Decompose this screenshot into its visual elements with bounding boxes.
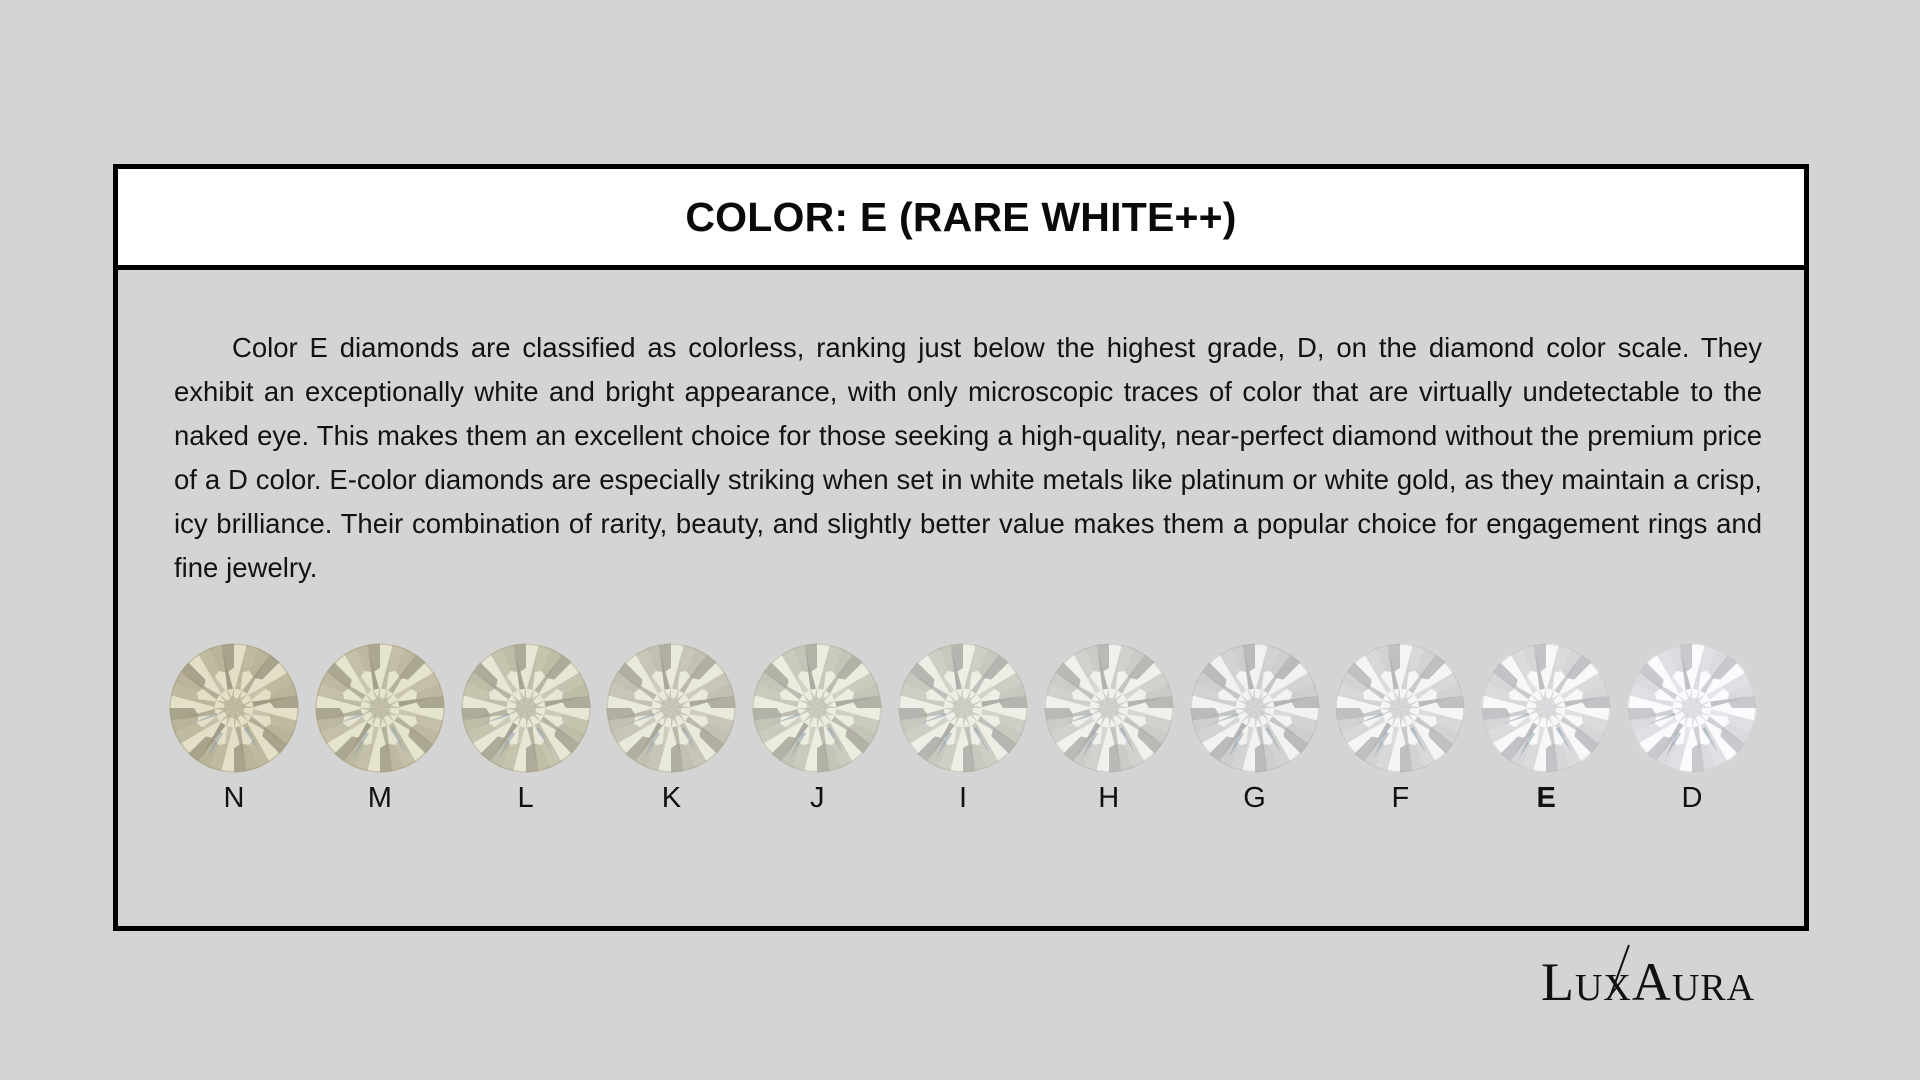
diamond-icon <box>314 642 446 774</box>
brand-logo: LUXAURA <box>1541 951 1755 1013</box>
logo-letter-a: A <box>1632 952 1672 1012</box>
color-grade-item[interactable]: I <box>897 642 1029 813</box>
color-grade-label: K <box>662 784 681 813</box>
color-grade-item[interactable]: M <box>314 642 446 813</box>
diamond-icon <box>1626 642 1758 774</box>
diamond-icon <box>897 642 1029 774</box>
logo-letters-ux: UX <box>1575 966 1632 1010</box>
color-grade-item[interactable]: D <box>1626 642 1758 813</box>
color-grade-label: M <box>368 784 392 813</box>
diamond-color-scale: NMLKJIHGFED <box>168 642 1758 813</box>
color-grade-item[interactable]: L <box>460 642 592 813</box>
color-grade-item[interactable]: G <box>1189 642 1321 813</box>
card-body: Color E diamonds are classified as color… <box>118 270 1804 926</box>
diamond-icon <box>1334 642 1466 774</box>
color-grade-label: E <box>1537 784 1556 813</box>
card-header: COLOR: E (RARE WHITE++) <box>118 169 1804 270</box>
diamond-icon <box>1189 642 1321 774</box>
color-grade-label: D <box>1681 784 1702 813</box>
diamond-icon <box>168 642 300 774</box>
description-paragraph: Color E diamonds are classified as color… <box>174 326 1762 590</box>
logo-letters-ura: URA <box>1672 966 1755 1010</box>
page-root: COLOR: E (RARE WHITE++) Color E diamonds… <box>0 0 1920 1080</box>
color-grade-item[interactable]: E <box>1480 642 1612 813</box>
diamond-icon <box>460 642 592 774</box>
diamond-icon <box>751 642 883 774</box>
color-grade-item[interactable]: N <box>168 642 300 813</box>
color-grade-label: I <box>959 784 967 813</box>
page-title: COLOR: E (RARE WHITE++) <box>685 194 1236 241</box>
logo-letter-l: L <box>1541 951 1575 1013</box>
color-grade-item[interactable]: H <box>1043 642 1175 813</box>
diamond-icon <box>1043 642 1175 774</box>
logo-letter-a-wrap: A <box>1632 951 1672 1013</box>
diamond-icon <box>605 642 737 774</box>
color-grade-label: F <box>1392 784 1410 813</box>
color-grade-label: H <box>1098 784 1119 813</box>
color-grade-label: G <box>1243 784 1266 813</box>
color-info-card: COLOR: E (RARE WHITE++) Color E diamonds… <box>113 164 1809 931</box>
color-grade-label: L <box>518 784 534 813</box>
color-grade-item[interactable]: J <box>751 642 883 813</box>
color-grade-item[interactable]: F <box>1334 642 1466 813</box>
color-grade-label: N <box>224 784 245 813</box>
diamond-icon <box>1480 642 1612 774</box>
color-grade-item[interactable]: K <box>605 642 737 813</box>
color-grade-label: J <box>810 784 825 813</box>
